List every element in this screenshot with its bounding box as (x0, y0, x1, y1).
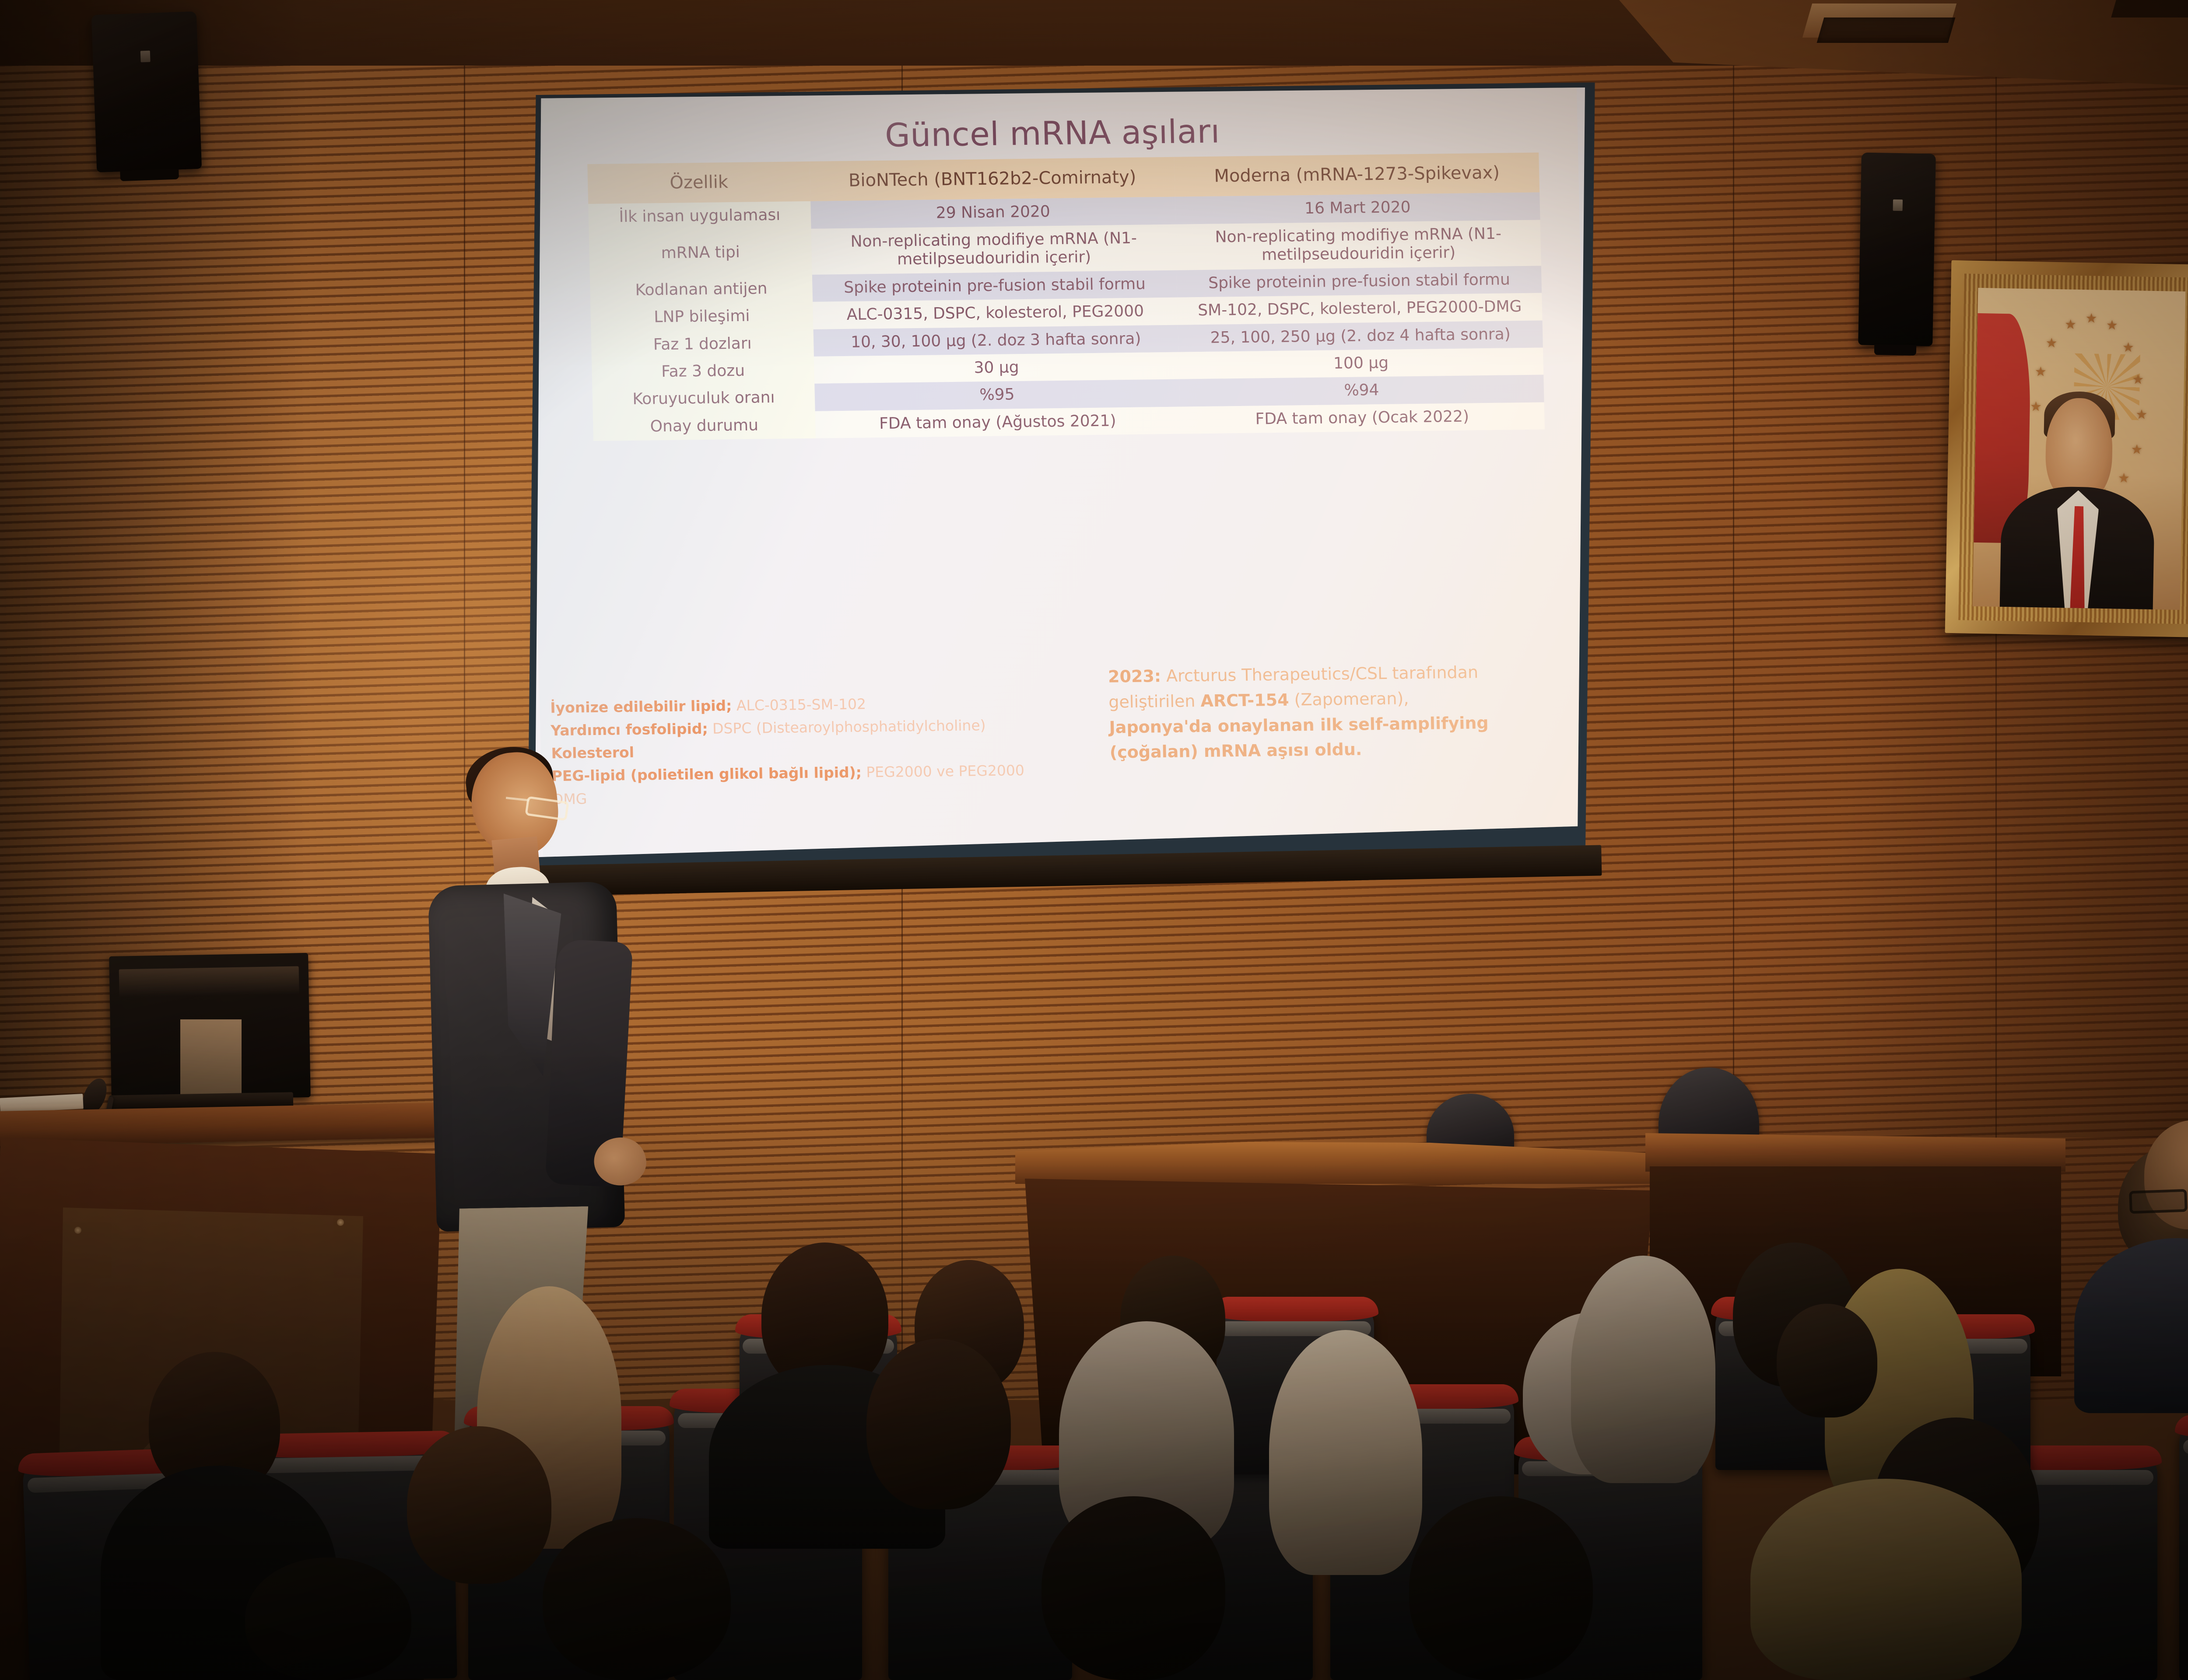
cell-biontech: Non-replicating modifiye mRNA (N1-metilp… (811, 224, 1177, 274)
wall-speaker-left (91, 11, 202, 172)
vaccine-comparison-table: Özellik BioNTech (BNT162b2-Comirnaty) Mo… (587, 153, 1545, 441)
projection-screen: Güncel mRNA aşıları Özellik BioNTech (BN… (535, 87, 1585, 862)
row-label: Kodlanan antijen (590, 274, 813, 304)
note-year: 2023: (1108, 666, 1161, 686)
framed-portrait: ★ ★ ★ ★ ★ ★ ★ ★ ★ ★ ★ ★ (1945, 260, 2188, 637)
audience-headscarf (1269, 1330, 1422, 1575)
header-cell-moderna: Moderna (mRNA-1273-Spikevax) (1174, 153, 1539, 197)
speaker-bracket (120, 169, 179, 182)
audience-headscarf (1571, 1256, 1715, 1483)
note-line4: (çoğalan) mRNA aşısı oldu. (1109, 740, 1362, 762)
speaker-bracket (1874, 344, 1916, 356)
row-label: mRNA tipi (589, 229, 812, 277)
audience-eyeglasses-icon (2129, 1189, 2188, 1214)
cell-biontech: %95 (814, 379, 1179, 411)
slide-right-note: 2023: Arcturus Therapeutics/CSL tarafınd… (1108, 659, 1539, 766)
cell-moderna: %94 (1179, 375, 1544, 407)
audience-shawl (1750, 1479, 2022, 1680)
cell-moderna: FDA tam onay (Ocak 2022) (1180, 402, 1545, 434)
audience-seat (2179, 1422, 2188, 1680)
scene-root: Güncel mRNA aşıları Özellik BioNTech (BN… (0, 0, 2188, 1680)
panel-screw (74, 1227, 81, 1234)
audience-head (866, 1339, 1011, 1509)
header-cell-feature: Özellik (587, 161, 810, 204)
row-label: Faz 3 dozu (592, 357, 814, 387)
row-label: Faz 1 dozları (591, 329, 814, 359)
cell-moderna: 25, 100, 250 µg (2. doz 4 hafta sonra) (1178, 320, 1543, 352)
cell-biontech: FDA tam onay (Ağustos 2021) (815, 407, 1180, 439)
cell-moderna: 100 µg (1178, 348, 1543, 380)
cell-moderna: 16 Mart 2020 (1175, 192, 1540, 224)
cell-biontech: 29 Nisan 2020 (810, 197, 1175, 229)
audience-head (1409, 1496, 1593, 1680)
slide-title: Güncel mRNA aşıları (535, 108, 1578, 159)
header-cell-biontech: BioNTech (BNT162b2-Comirnaty) (810, 157, 1175, 201)
cell-moderna: Spike proteinin pre-fusion stabil formu (1177, 266, 1542, 297)
note-line2-pre: geliştirilen (1108, 691, 1201, 712)
cell-moderna: SM-102, DSPC, kolesterol, PEG2000-DMG (1177, 293, 1542, 325)
cell-moderna: Non-replicating modifiye mRNA (N1-metilp… (1176, 220, 1541, 270)
row-label: Koruyuculuk oranı (592, 384, 815, 414)
row-label: İlk insan uygulaması (588, 201, 811, 231)
speaker-led-icon (1893, 199, 1903, 210)
cell-biontech: Spike proteinin pre-fusion stabil formu (812, 270, 1177, 302)
note-line1: Arcturus Therapeutics/CSL tarafından (1161, 662, 1479, 686)
footnote-value: ALC-0315-SM-102 (732, 695, 866, 714)
panel-desk-top (1015, 1142, 1663, 1184)
portrait-photo: ★ ★ ★ ★ ★ ★ ★ ★ ★ ★ ★ ★ (1973, 288, 2186, 610)
cell-biontech: 10, 30, 100 µg (2. doz 3 hafta sonra) (813, 325, 1178, 357)
audience-head (1041, 1496, 1225, 1680)
footnote-value: DSPC (Distearoylphosphatidylcholine) (708, 717, 986, 737)
note-line2-bold: ARCT-154 (1200, 690, 1289, 710)
monitor-glare (119, 966, 299, 997)
note-line2-post: (Zapomeran), (1289, 689, 1409, 709)
audience-head (407, 1426, 551, 1584)
speaker-led-icon (140, 51, 151, 63)
audience-head (543, 1518, 731, 1680)
panel-screw (337, 1219, 344, 1226)
footnote-key: İyonize edilebilir lipid; (550, 697, 732, 716)
cell-biontech: 30 µg (814, 352, 1179, 384)
note-line3: Japonya'da onaylanan ilk self-amplifying (1109, 713, 1489, 737)
row-label: LNP bileşimi (590, 302, 813, 332)
cell-biontech: ALC-0315, DSPC, kolesterol, PEG2000 (813, 297, 1178, 329)
footnote-key: Yardımcı fosfolipid; (551, 720, 708, 739)
wall-speaker-right (1858, 153, 1936, 346)
lectern-top-surface (0, 1102, 464, 1146)
audience-head (245, 1557, 411, 1680)
audience-head (1777, 1304, 1877, 1417)
slide-surface: Güncel mRNA aşıları Özellik BioNTech (BN… (535, 87, 1585, 862)
row-label: Onay durumu (593, 411, 816, 441)
panel-desk-top (1645, 1133, 2065, 1172)
